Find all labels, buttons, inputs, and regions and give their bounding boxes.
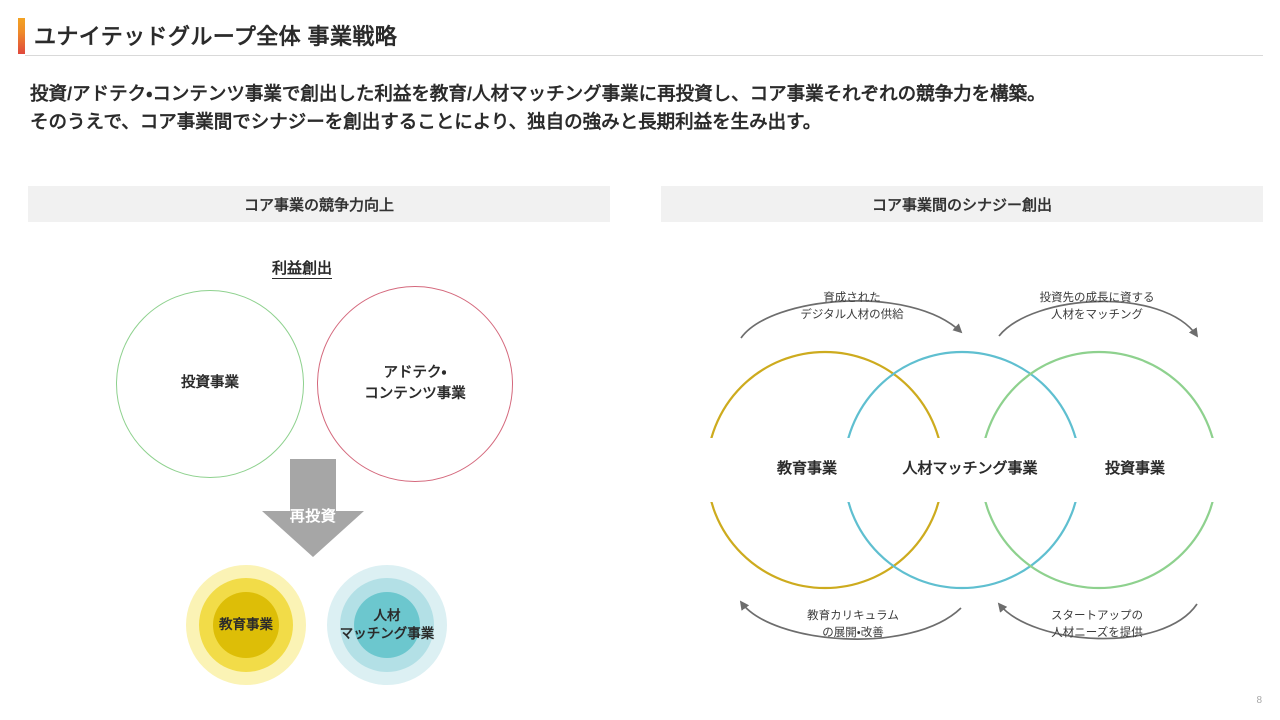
annotation-talent-to-education: 教育カリキュラム の展開・改善 bbox=[765, 608, 941, 641]
annotation-top-right-line-1: 投資先の成長に資する bbox=[1040, 292, 1155, 304]
title-divider bbox=[25, 55, 1263, 56]
panel-heading-right: コア事業間のシナジー創出 bbox=[661, 186, 1263, 222]
venn-label-talent-matching: 人材マッチング事業 bbox=[880, 457, 1060, 478]
page-number: 8 bbox=[1256, 695, 1262, 706]
annotation-bottom-left-line-2: の展開・改善 bbox=[822, 627, 883, 639]
annotation-top-left-line-1: 育成された bbox=[823, 292, 881, 304]
blob-talent-label-line-2: マッチング事業 bbox=[340, 626, 435, 641]
lead-line-2: そのうえで、コア事業間でシナジーを創出することにより、独自の強みと長期利益を生み… bbox=[30, 108, 1255, 136]
blob-education-business: 教育事業 bbox=[186, 565, 306, 685]
blob-talent-label: 人材 マッチング事業 bbox=[340, 607, 435, 643]
adtech-label-line-1: アドテク・ bbox=[384, 365, 447, 381]
lead-line-1: 投資/アドテク・コンテンツ事業で創出した利益を教育/人材マッチング事業に再投資し… bbox=[30, 80, 1255, 108]
annotation-bottom-right-line-1: スタートアップの bbox=[1051, 610, 1143, 622]
annotation-bottom-left-line-1: 教育カリキュラム bbox=[807, 610, 899, 622]
circle-investment-business-label: 投資事業 bbox=[181, 373, 239, 394]
blob-talent-label-line-1: 人材 bbox=[374, 608, 401, 623]
annotation-talent-to-investment: 投資先の成長に資する 人材をマッチング bbox=[1004, 290, 1190, 323]
circle-adtech-content-business: アドテク・ コンテンツ事業 bbox=[317, 286, 513, 482]
annotation-top-left-line-2: デジタル人材の供給 bbox=[800, 309, 903, 321]
annotation-bottom-right-line-2: 人材ニーズを提供 bbox=[1051, 627, 1142, 639]
adtech-label-line-2: コンテンツ事業 bbox=[364, 386, 466, 402]
title-accent-bar bbox=[18, 18, 25, 54]
annotation-education-to-talent: 育成された デジタル人材の供給 bbox=[762, 290, 942, 323]
annotation-investment-to-talent: スタートアップの 人材ニーズを提供 bbox=[1007, 608, 1187, 641]
venn-label-education: 教育事業 bbox=[752, 457, 862, 478]
blob-education-label: 教育事業 bbox=[219, 616, 273, 634]
reinvest-arrow-label: 再投資 bbox=[259, 505, 367, 526]
blob-talent-matching-business: 人材 マッチング事業 bbox=[327, 565, 447, 685]
circle-investment-business: 投資事業 bbox=[116, 290, 304, 478]
circle-adtech-content-business-label: アドテク・ コンテンツ事業 bbox=[364, 363, 466, 405]
panel-heading-left: コア事業の競争力向上 bbox=[28, 186, 610, 222]
page-title: ユナイテッドグループ全体 事業戦略 bbox=[34, 19, 397, 51]
profit-creation-label: 利益創出 bbox=[272, 260, 332, 279]
venn-label-investment: 投資事業 bbox=[1080, 457, 1190, 478]
annotation-top-right-line-2: 人材をマッチング bbox=[1051, 309, 1143, 321]
lead-paragraph: 投資/アドテク・コンテンツ事業で創出した利益を教育/人材マッチング事業に再投資し… bbox=[30, 80, 1255, 136]
